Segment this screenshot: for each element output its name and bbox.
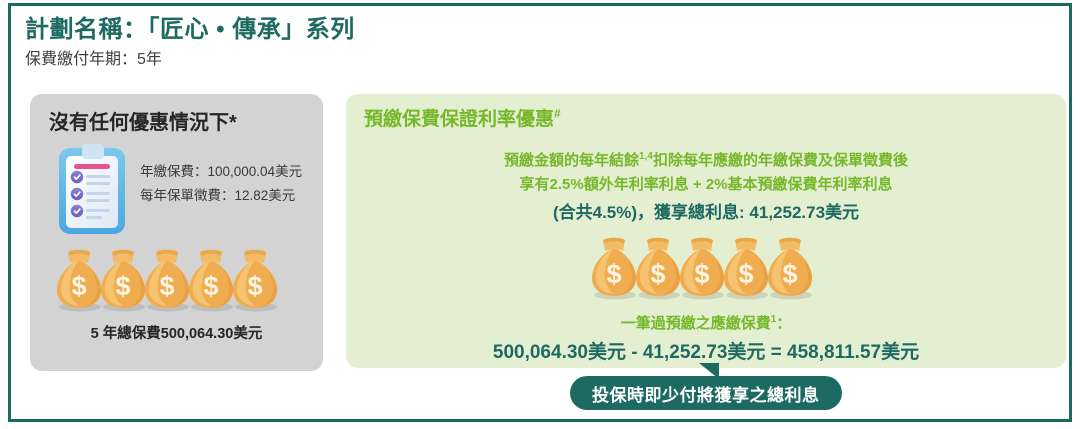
svg-text:$: $ [203,271,218,301]
total-premium-left: 5 年總保費500,064.30美元 [30,322,323,343]
lump-sum-prepayment-colon: ： [776,315,791,332]
offer-line-3-total-interest: (合共4.5%)，獲享總利息: 41,252.73美元 [346,199,1066,226]
promo-card-frame: 計劃名稱：「匠心 • 傳承」系列 保費繳付年期：5年 沒有任何優惠情況下* [8,3,1072,422]
offer-card-title-footnote: # [554,107,561,121]
savings-callout-text: 投保時即少付將獲享之總利息 [592,381,820,406]
lump-sum-prepayment-label: 一筆過預繳之應繳保費1： [346,312,1066,333]
prepayment-equation: 500,064.30美元 - 41,252.73美元 = 458,811.57美… [346,337,1066,364]
annual-premium-value: 年繳保費：100,000.04美元 [140,160,302,184]
offer-card-title-text: 預繳保費保證利率優惠 [364,109,554,130]
lump-sum-prepayment-label-text: 一筆過預繳之應繳保費 [621,315,771,332]
no-discount-card-title: 沒有任何優惠情況下* [49,106,237,135]
offer-line-1-footnote: 1,4 [639,151,653,162]
money-bags-group-right: $$$$$ [587,230,837,302]
svg-text:$: $ [159,271,174,301]
svg-text:$: $ [782,259,797,289]
svg-text:$: $ [606,259,621,289]
offer-line-1: 預繳金額的每年結餘1,4扣除每年應繳的年繳保費及保單徵費後 [346,149,1066,173]
page-title: 計劃名稱：「匠心 • 傳承」系列 [25,16,1055,44]
money-bag-icon: $ [228,242,282,312]
svg-text:$: $ [694,259,709,289]
no-discount-card: 沒有任何優惠情況下* [30,94,323,371]
prepaid-premium-offer-card: 預繳保費保證利率優惠# 預繳金額的每年結餘1,4扣除每年應繳的年繳保費及保單徵費… [346,94,1066,368]
offer-line-1-b: 扣除每年應繳的年繳保費及保單徵費後 [653,152,908,169]
clipboard-checklist-icon [54,142,132,238]
premium-details: 年繳保費：100,000.04美元 每年保單徵費：12.82美元 [140,160,302,207]
svg-text:$: $ [247,271,262,301]
offer-card-title: 預繳保費保證利率優惠# [364,104,561,131]
money-bags-group-left: $$$$$ [52,242,302,314]
svg-text:$: $ [738,259,753,289]
offer-line-2: 享有2.5%額外年利率利息 + 2%基本預繳保費年利率利息 [346,173,1066,197]
savings-callout-badge: 投保時即少付將獲享之總利息 [570,376,842,410]
annual-policy-fee-value: 每年保單徵費：12.82美元 [140,184,302,208]
svg-text:$: $ [71,271,86,301]
offer-line-1-a: 預繳金額的每年結餘 [504,152,639,169]
offer-description: 預繳金額的每年結餘1,4扣除每年應繳的年繳保費及保單徵費後 享有2.5%額外年利… [346,149,1066,226]
header: 計劃名稱：「匠心 • 傳承」系列 保費繳付年期：5年 [25,16,1055,69]
premium-term-label: 保費繳付年期：5年 [25,50,1055,69]
svg-text:$: $ [115,271,130,301]
svg-text:$: $ [650,259,665,289]
money-bag-icon: $ [763,230,817,300]
